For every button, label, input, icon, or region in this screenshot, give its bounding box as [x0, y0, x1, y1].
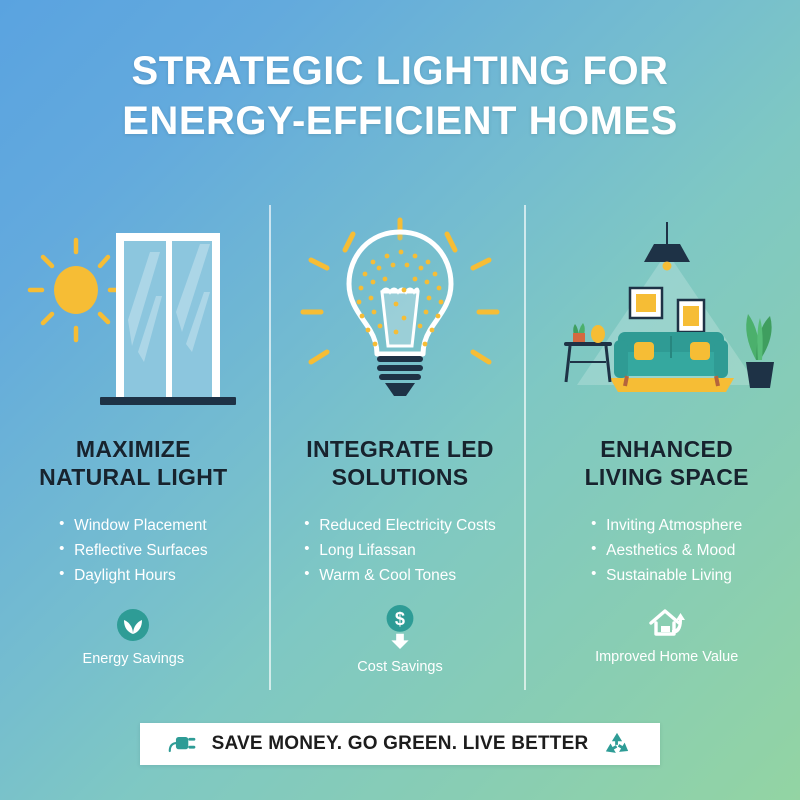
column-heading-line-1: MAXIMIZE	[76, 436, 191, 462]
led-light-bulb-icon	[267, 200, 534, 405]
column-heading: MAXIMIZE NATURAL LIGHT	[39, 435, 227, 491]
dollar-down-arrow-icon: $	[383, 604, 417, 650]
list-item: Reduced Electricity Costs	[304, 513, 496, 538]
svg-text:$: $	[395, 610, 405, 630]
column-heading: INTEGRATE LED SOLUTIONS	[306, 435, 493, 491]
power-plug-icon	[168, 731, 198, 757]
badge-cost-savings: $ Cost Savings	[357, 604, 442, 675]
column-maximize-natural-light: MAXIMIZE NATURAL LIGHT Window Placement …	[0, 200, 267, 700]
recycle-icon	[602, 731, 632, 757]
benefit-list: Inviting Atmosphere Aesthetics & Mood Su…	[591, 513, 742, 588]
column-integrate-led-solutions: INTEGRATE LED SOLUTIONS Reduced Electric…	[267, 200, 534, 700]
page-title-line-2: ENERGY-EFFICIENT HOMES	[0, 96, 800, 146]
column-heading: ENHANCED LIVING SPACE	[585, 435, 749, 491]
column-heading-line-1: ENHANCED	[600, 436, 733, 462]
banner-text: SAVE MONEY. GO GREEN. LIVE BETTER	[212, 733, 589, 755]
column-heading-line-2: SOLUTIONS	[306, 463, 493, 491]
badge-improved-home-value: Improved Home Value	[595, 606, 738, 665]
list-item: Window Placement	[59, 513, 208, 538]
benefit-list: Reduced Electricity Costs Long Lifassan …	[304, 513, 496, 588]
leaf-icon	[116, 608, 150, 642]
list-item: Sustainable Living	[591, 563, 742, 588]
list-item: Warm & Cool Tones	[304, 563, 496, 588]
benefit-list: Window Placement Reflective Surfaces Day…	[59, 513, 208, 588]
badge-label: Energy Savings	[83, 651, 185, 667]
list-item: Long Lifassan	[304, 538, 496, 563]
columns-container: MAXIMIZE NATURAL LIGHT Window Placement …	[0, 200, 800, 700]
living-room-icon	[533, 200, 800, 405]
page-title-line-1: STRATEGIC LIGHTING FOR	[132, 49, 669, 93]
list-item: Daylight Hours	[59, 563, 208, 588]
page-title: STRATEGIC LIGHTING FOR ENERGY-EFFICIENT …	[0, 46, 800, 147]
sun-and-window-icon	[0, 200, 267, 405]
call-to-action-banner[interactable]: SAVE MONEY. GO GREEN. LIVE BETTER	[140, 723, 660, 765]
badge-label: Cost Savings	[357, 659, 442, 675]
column-enhanced-living-space: ENHANCED LIVING SPACE Inviting Atmospher…	[533, 200, 800, 700]
list-item: Reflective Surfaces	[59, 538, 208, 563]
house-up-arrow-icon	[646, 606, 688, 640]
column-heading-line-2: NATURAL LIGHT	[39, 463, 227, 491]
list-item: Aesthetics & Mood	[591, 538, 742, 563]
column-heading-line-1: INTEGRATE LED	[306, 436, 493, 462]
column-heading-line-2: LIVING SPACE	[585, 463, 749, 491]
list-item: Inviting Atmosphere	[591, 513, 742, 538]
badge-energy-savings: Energy Savings	[83, 608, 185, 667]
badge-label: Improved Home Value	[595, 649, 738, 665]
